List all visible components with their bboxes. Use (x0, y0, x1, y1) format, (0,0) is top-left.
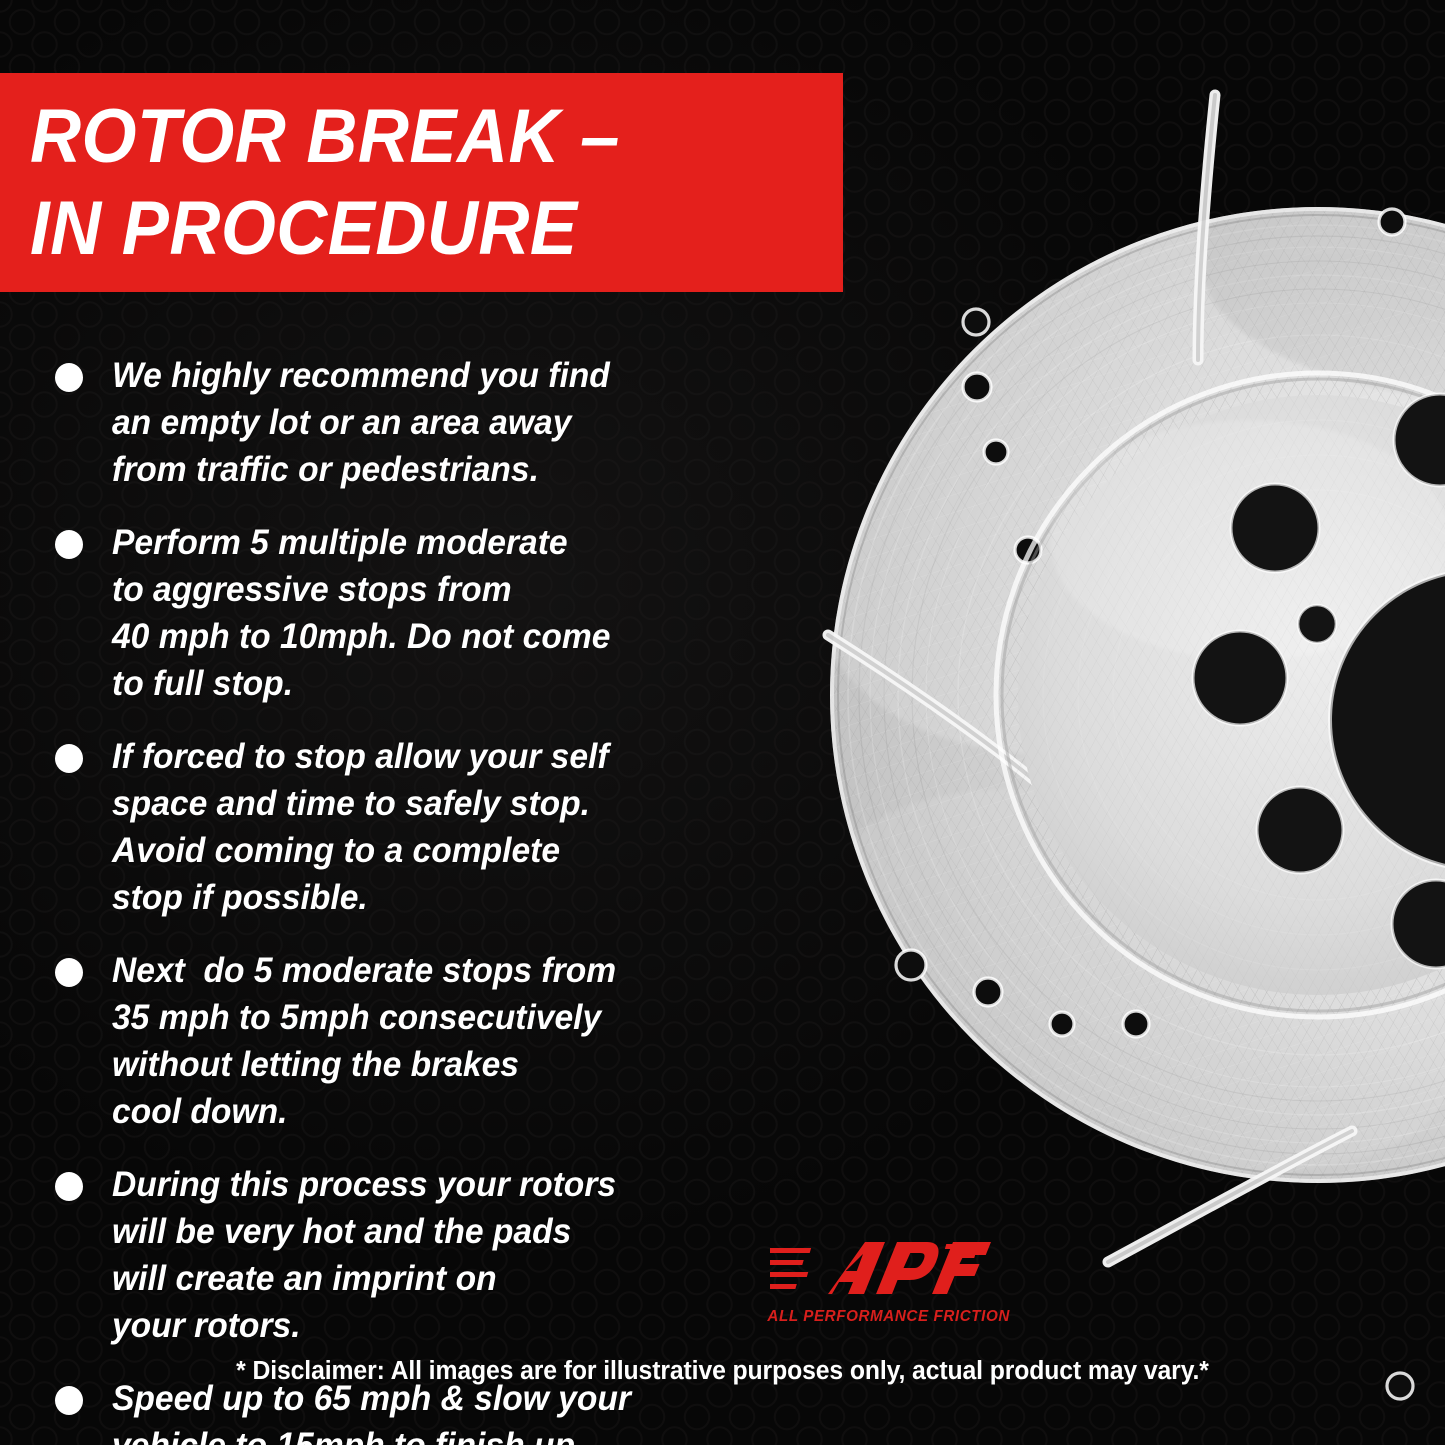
step-text: We highly recommend you find an empty lo… (112, 352, 610, 493)
bullet-dot-icon (55, 1386, 83, 1415)
step-text: If forced to stop allow your self space … (112, 733, 609, 921)
brand-tagline: ALL PERFORMANCE FRICTION (767, 1308, 1002, 1326)
bullet-dot-icon (55, 530, 83, 559)
step-text: During this process your rotors will be … (112, 1161, 616, 1349)
step-text: Next do 5 moderate stops from 35 mph to … (112, 947, 616, 1135)
promo-graphic-canvas: ROTOR BREAK – IN PROCEDURE We highly rec… (0, 0, 1445, 1445)
list-item: If forced to stop allow your self space … (0, 733, 760, 921)
list-item: We highly recommend you find an empty lo… (0, 352, 760, 493)
procedure-step-list: We highly recommend you find an empty lo… (0, 352, 760, 1445)
page-title-line-2: IN PROCEDURE (30, 183, 786, 275)
bullet-dot-icon (55, 744, 83, 773)
page-title-line-1: ROTOR BREAK – (30, 91, 786, 183)
apf-wordmark-icon (765, 1238, 1005, 1300)
title-banner: ROTOR BREAK – IN PROCEDURE (0, 73, 843, 292)
bullet-dot-icon (55, 363, 83, 392)
list-item: Next do 5 moderate stops from 35 mph to … (0, 947, 760, 1135)
brand-logo: ALL PERFORMANCE FRICTION (765, 1238, 1005, 1326)
bullet-dot-icon (55, 1172, 83, 1201)
list-item: During this process your rotors will be … (0, 1161, 760, 1349)
bullet-dot-icon (55, 958, 83, 987)
disclaimer-text: * Disclaimer: All images are for illustr… (22, 1357, 1424, 1386)
step-text: Perform 5 multiple moderate to aggressiv… (112, 519, 610, 707)
list-item: Perform 5 multiple moderate to aggressiv… (0, 519, 760, 707)
